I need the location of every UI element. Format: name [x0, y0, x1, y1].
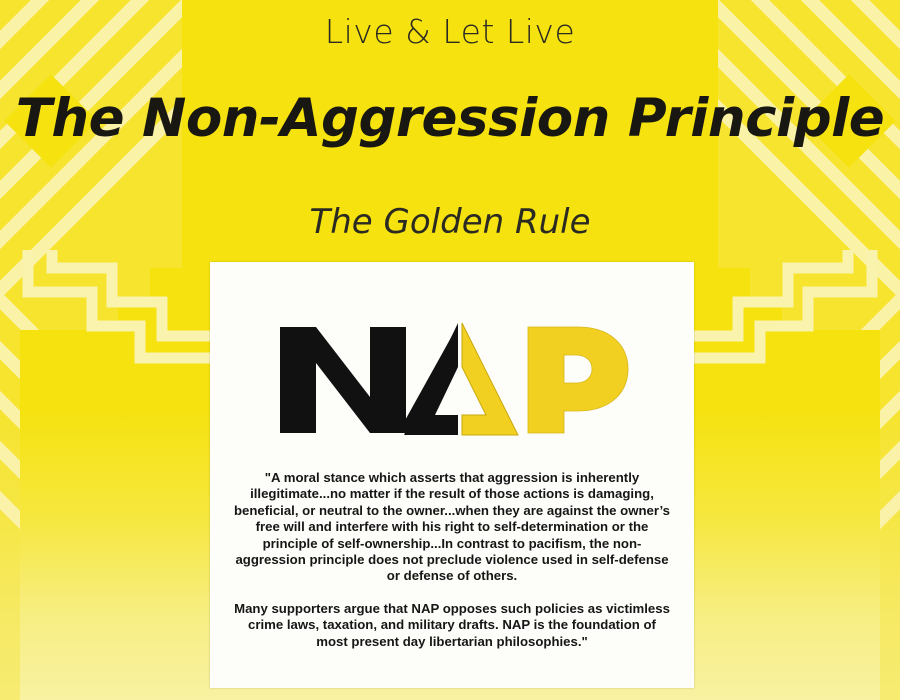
- logo-letter-p: [528, 327, 628, 433]
- quote-body: "A moral stance which asserts that aggre…: [232, 470, 672, 650]
- poster-canvas: Live & Let Live The Non-Aggression Princ…: [0, 0, 900, 700]
- quote-paragraph-2: Many supporters argue that NAP opposes s…: [232, 601, 672, 650]
- nap-logo: [210, 320, 694, 440]
- nap-logo-icon: [272, 319, 632, 441]
- content-card: "A moral stance which asserts that aggre…: [210, 262, 694, 688]
- logo-letter-a-yellow: [462, 323, 518, 441]
- quote-paragraph-1: "A moral stance which asserts that aggre…: [232, 470, 672, 585]
- tagline-top: Live & Let Live: [0, 12, 900, 51]
- tagline-sub: The Golden Rule: [0, 202, 900, 242]
- page-title: The Non-Aggression Principle: [0, 88, 900, 149]
- logo-letter-n: [280, 327, 406, 433]
